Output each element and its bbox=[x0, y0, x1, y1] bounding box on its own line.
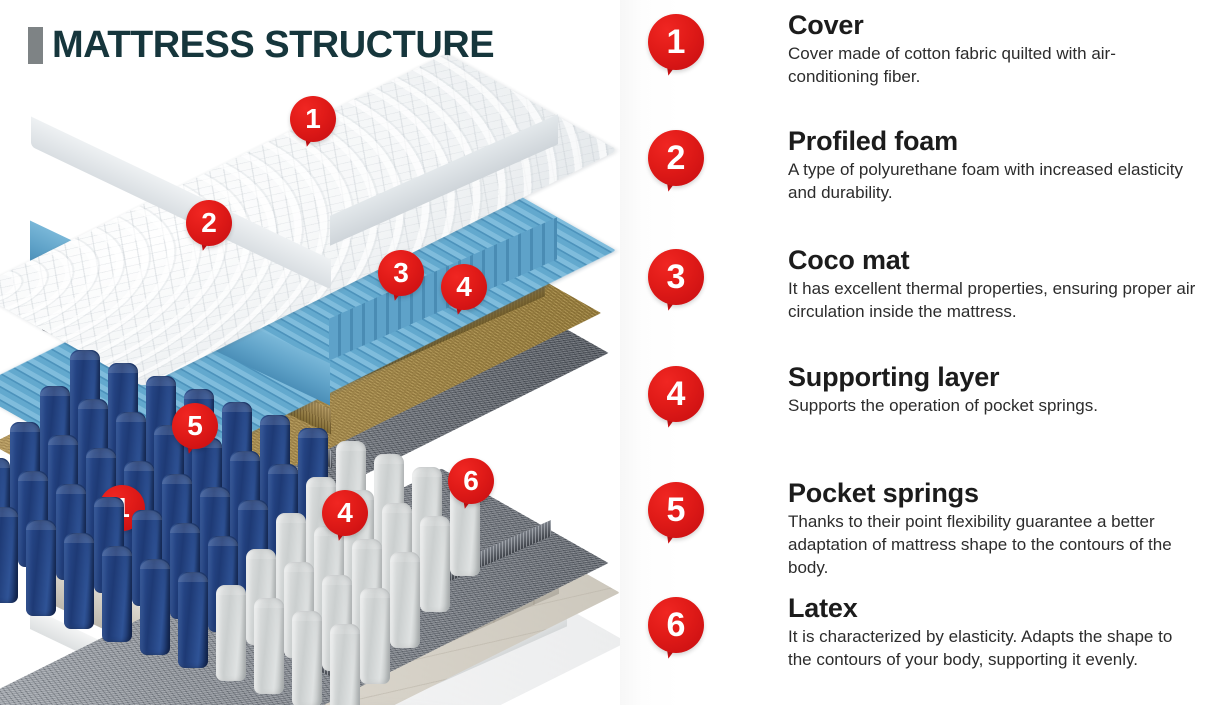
marker-number: 2 bbox=[186, 200, 232, 246]
pocket-spring-cylinder bbox=[102, 546, 132, 642]
pocket-spring-cylinder bbox=[140, 559, 170, 655]
pocket-spring-cylinder bbox=[64, 533, 94, 629]
marker-number: 6 bbox=[448, 458, 494, 504]
marker-number: 4 bbox=[322, 490, 368, 536]
legend-item-description: Supports the operation of pocket springs… bbox=[788, 394, 1198, 417]
pocket-spring-cylinder bbox=[26, 520, 56, 616]
drop-shadow bbox=[70, 700, 500, 705]
marker-pin-supporting-layer-3[interactable]: 4 bbox=[441, 264, 487, 310]
pocket-spring-cylinder bbox=[254, 598, 284, 694]
pocket-spring-cylinder bbox=[292, 611, 322, 705]
marker-pin-legend-5[interactable]: 5 bbox=[648, 482, 704, 538]
title-accent-bar bbox=[28, 27, 43, 64]
marker-number: 2 bbox=[648, 130, 704, 186]
legend-item-body: Supporting layerSupports the operation o… bbox=[788, 362, 1198, 417]
marker-number: 6 bbox=[648, 597, 704, 653]
marker-pin-legend-3[interactable]: 3 bbox=[648, 249, 704, 305]
mattress-illustration: 12345614 bbox=[0, 60, 620, 705]
page-title-text: MATTRESS STRUCTURE bbox=[52, 26, 494, 64]
pocket-spring-cylinder bbox=[420, 516, 450, 612]
marker-number: 1 bbox=[290, 96, 336, 142]
pocket-spring-cylinder bbox=[390, 552, 420, 648]
legend-item-body: CoverCover made of cotton fabric quilted… bbox=[788, 10, 1198, 88]
marker-pin-supporting-layer-bottom-7[interactable]: 4 bbox=[322, 490, 368, 536]
legend-item-body: LatexIt is characterized by elasticity. … bbox=[788, 593, 1198, 671]
legend-item-description: A type of polyurethane foam with increas… bbox=[788, 158, 1198, 204]
legend-item-body: Pocket springsThanks to their point flex… bbox=[788, 478, 1198, 579]
marker-pin-legend-2[interactable]: 2 bbox=[648, 130, 704, 186]
pocket-spring-cylinder bbox=[178, 572, 208, 668]
infographic-page: MATTRESS STRUCTURE bbox=[0, 0, 1214, 705]
legend-item-description: Thanks to their point flexibility guaran… bbox=[788, 510, 1198, 579]
legend-item-title: Profiled foam bbox=[788, 126, 1198, 156]
marker-pin-legend-1[interactable]: 1 bbox=[648, 14, 704, 70]
pocket-spring-cylinder bbox=[360, 588, 390, 684]
marker-pin-legend-4[interactable]: 4 bbox=[648, 366, 704, 422]
marker-pin-cover-0[interactable]: 1 bbox=[290, 96, 336, 142]
legend-item-title: Pocket springs bbox=[788, 478, 1198, 508]
legend-item-title: Coco mat bbox=[788, 245, 1198, 275]
marker-pin-legend-6[interactable]: 6 bbox=[648, 597, 704, 653]
legend-item-body: Coco matIt has excellent thermal propert… bbox=[788, 245, 1198, 323]
layer-legend-panel: 1CoverCover made of cotton fabric quilte… bbox=[620, 0, 1214, 705]
marker-number: 5 bbox=[172, 403, 218, 449]
marker-number: 4 bbox=[648, 366, 704, 422]
marker-number: 5 bbox=[648, 482, 704, 538]
legend-item-title: Latex bbox=[788, 593, 1198, 623]
legend-item-title: Cover bbox=[788, 10, 1198, 40]
legend-item-title: Supporting layer bbox=[788, 362, 1198, 392]
marker-pin-profiled-foam-1[interactable]: 2 bbox=[186, 200, 232, 246]
legend-item-description: It is characterized by elasticity. Adapt… bbox=[788, 625, 1198, 671]
marker-number: 1 bbox=[648, 14, 704, 70]
marker-number: 4 bbox=[441, 264, 487, 310]
marker-number: 3 bbox=[378, 250, 424, 296]
pocket-spring-cylinder bbox=[0, 507, 18, 603]
pocket-spring-cylinder bbox=[330, 624, 360, 705]
legend-item-body: Profiled foamA type of polyurethane foam… bbox=[788, 126, 1198, 204]
marker-number: 3 bbox=[648, 249, 704, 305]
legend-item-description: Cover made of cotton fabric quilted with… bbox=[788, 42, 1198, 88]
marker-pin-pocket-springs-4[interactable]: 5 bbox=[172, 403, 218, 449]
marker-pin-coco-mat-2[interactable]: 3 bbox=[378, 250, 424, 296]
pocket-spring-cylinder bbox=[216, 585, 246, 681]
marker-pin-latex-5[interactable]: 6 bbox=[448, 458, 494, 504]
legend-item-description: It has excellent thermal properties, ens… bbox=[788, 277, 1198, 323]
page-title: MATTRESS STRUCTURE bbox=[28, 26, 494, 64]
